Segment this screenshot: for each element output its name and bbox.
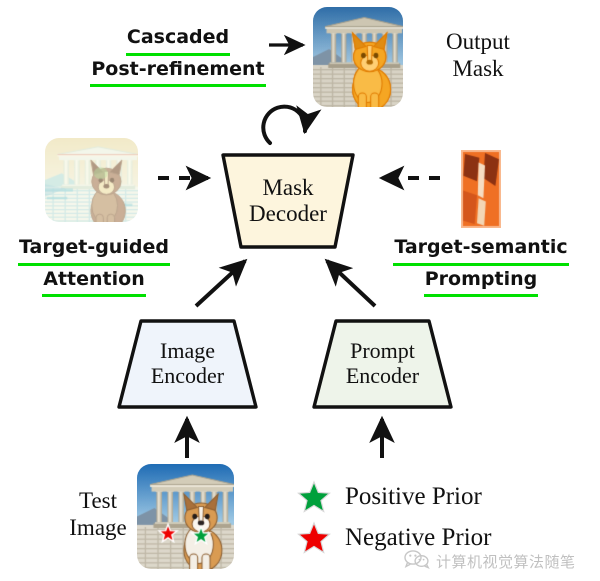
prompt-encoder-block[interactable]: Prompt Encoder xyxy=(311,318,454,410)
output-mask-thumb xyxy=(313,7,403,107)
diagram-canvas: Cascaded Post-refinement Output Mask Tar… xyxy=(0,0,600,581)
semantic-prompt-thumb xyxy=(461,150,501,228)
wechat-icon xyxy=(404,549,430,573)
watermark: 计算机视觉算法随笔 xyxy=(404,549,576,573)
test-image-thumb xyxy=(137,464,234,569)
arrow-self-loop xyxy=(263,107,305,143)
mask-decoder-block[interactable]: Mask Decoder xyxy=(214,152,362,250)
output-mask-label: Output Mask xyxy=(418,28,538,82)
legend-positive-prior: Positive Prior xyxy=(297,480,482,514)
callout-line: Attention xyxy=(42,266,145,298)
negative-star-icon xyxy=(297,521,331,555)
callout-line: Prompting xyxy=(424,266,538,298)
test-image-label: Test Image xyxy=(48,487,148,541)
image-encoder-label: Image Encoder xyxy=(151,339,224,388)
callout-line: Cascaded xyxy=(126,24,230,56)
legend-label: Positive Prior xyxy=(345,483,482,511)
image-encoder-block[interactable]: Image Encoder xyxy=(116,318,259,410)
callout-cascaded-post-refinement: Cascaded Post-refinement xyxy=(82,24,274,87)
callout-target-semantic-prompting: Target-semantic Prompting xyxy=(390,234,572,297)
mask-decoder-label: Mask Decoder xyxy=(249,175,327,227)
callout-line: Target-semantic xyxy=(393,234,568,266)
legend-label: Negative Prior xyxy=(345,524,491,552)
callout-line: Post-refinement xyxy=(90,56,265,88)
arrow-image-encoder-up xyxy=(196,261,245,306)
callout-line: Target-guided xyxy=(18,234,170,266)
callout-target-guided-attention: Target-guided Attention xyxy=(10,234,178,297)
positive-star-icon xyxy=(297,480,331,514)
prompt-encoder-label: Prompt Encoder xyxy=(346,339,419,388)
attention-map-thumb xyxy=(45,138,138,222)
arrow-prompt-encoder-up xyxy=(327,261,375,306)
watermark-text: 计算机视觉算法随笔 xyxy=(436,551,576,572)
